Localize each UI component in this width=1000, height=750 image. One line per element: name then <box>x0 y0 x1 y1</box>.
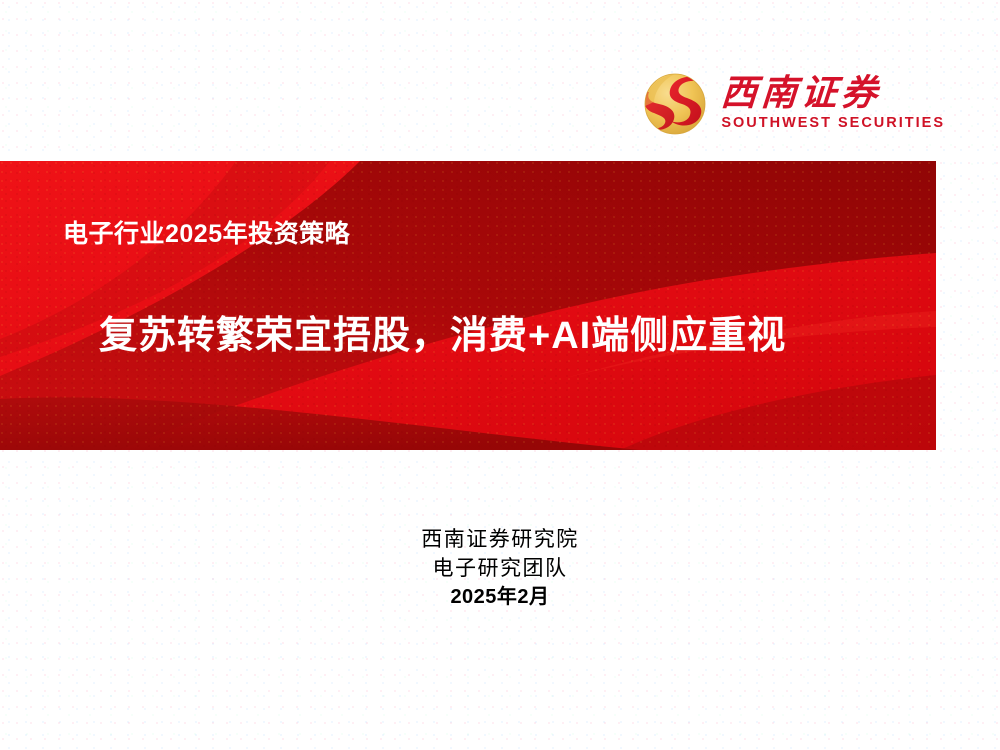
title-banner-text: 电子行业2025年投资策略 复苏转繁荣宜捂股，消费+AI端侧应重视 <box>0 0 1000 750</box>
footer-institute: 西南证券研究院 <box>0 525 1000 554</box>
footer-date: 2025年2月 <box>0 583 1000 612</box>
banner-subtitle: 电子行业2025年投资策略 <box>63 218 350 250</box>
banner-title: 复苏转繁荣宜捂股，消费+AI端侧应重视 <box>99 312 786 360</box>
slide-footer: 西南证券研究院 电子研究团队 2025年2月 <box>0 525 1000 612</box>
footer-team: 电子研究团队 <box>0 554 1000 583</box>
